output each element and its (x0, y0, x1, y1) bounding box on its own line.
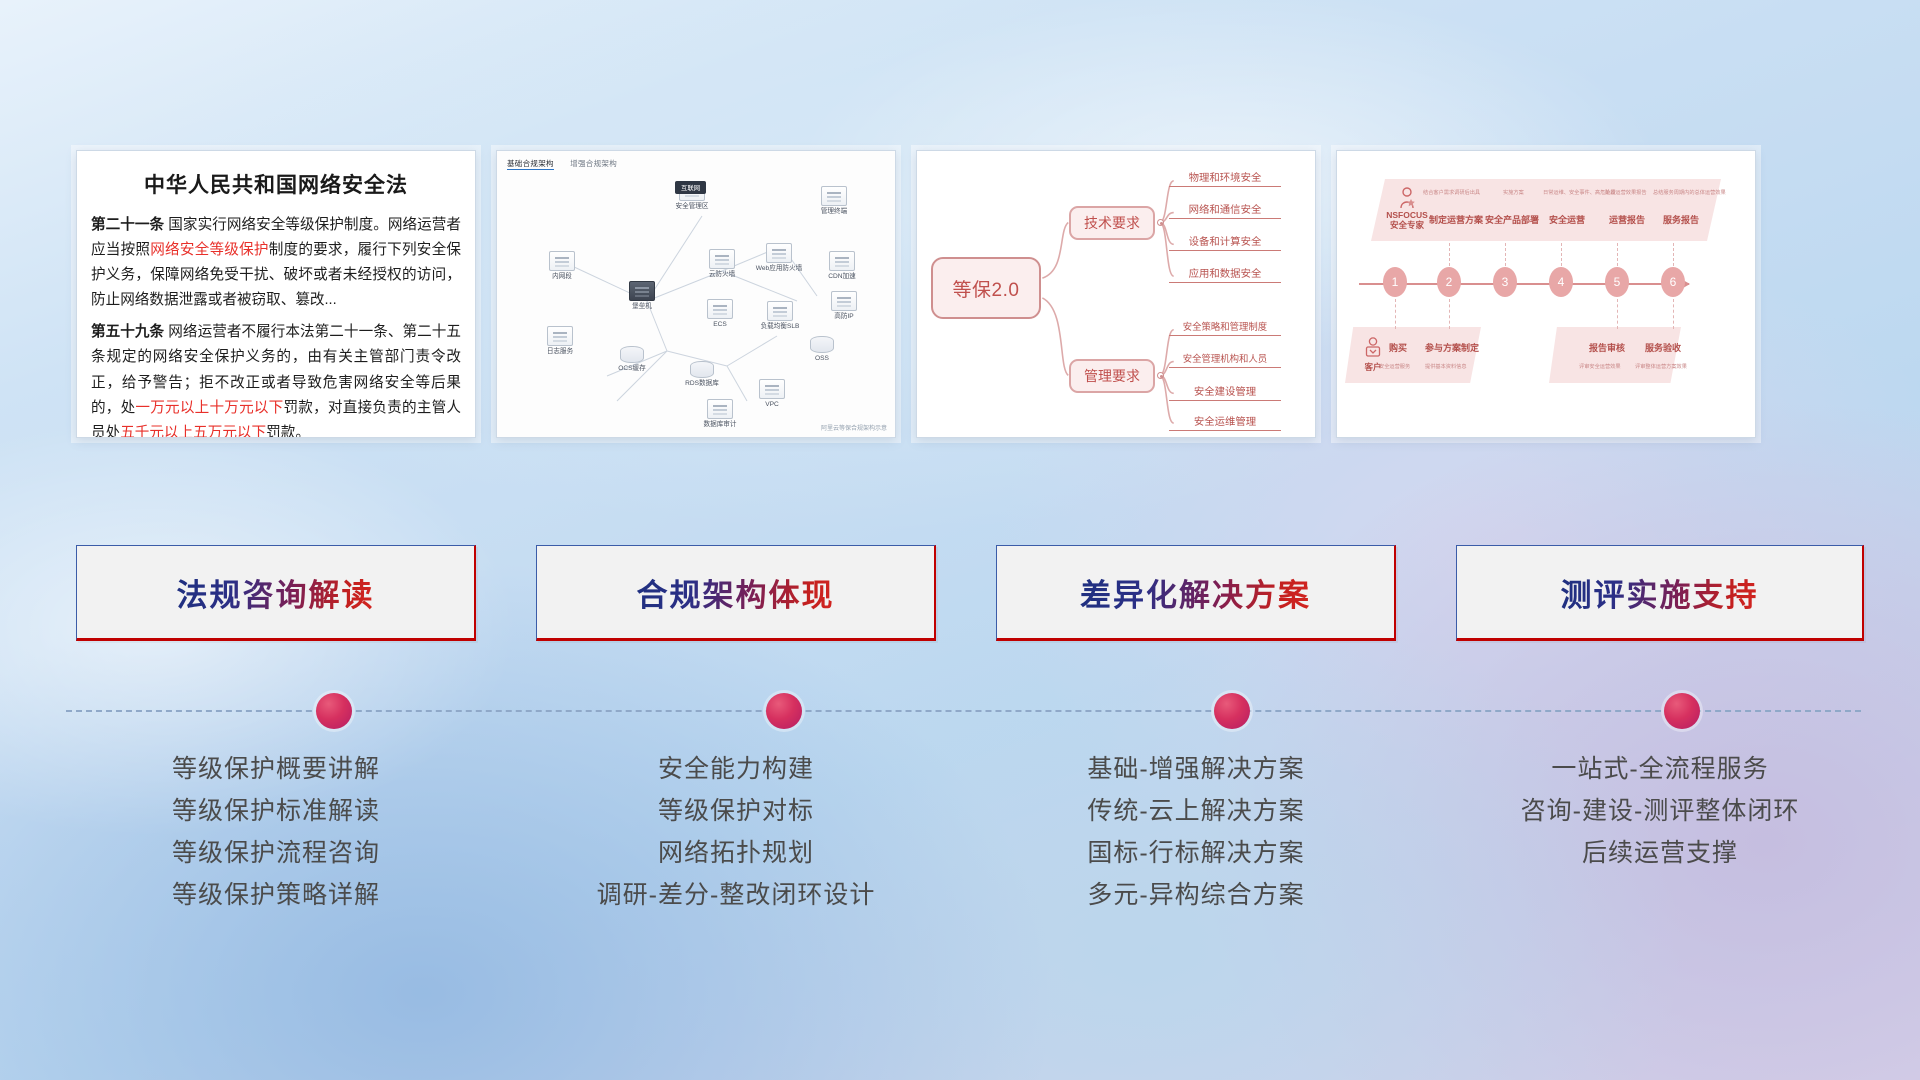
service-column-4: 一站式-全流程服务 咨询-建设-测评整体闭环 后续运营支撑 (1456, 748, 1864, 916)
timeline-marker-1 (316, 693, 352, 729)
process-connector (1617, 299, 1618, 329)
section-heading-text: 差异化解决方案 (1080, 570, 1311, 615)
expert-label-line1: NSFOCUS (1381, 210, 1433, 220)
mindmap-leaf: 安全策略和管理制度 (1169, 319, 1281, 336)
service-item: 后续运营支撑 (1456, 832, 1864, 874)
arch-node-label: 数据库审计 (704, 421, 737, 428)
illustration-card-row: 中华人民共和国网络安全法 第二十一条 国家实行网络安全等级保护制度。网络运营者应… (76, 150, 1846, 440)
arch-node-label: Web应用防火墙 (756, 265, 802, 272)
service-item: 咨询-建设-测评整体闭环 (1456, 790, 1864, 832)
process-step-sub: 结合客户需求调研后出具 (1423, 189, 1480, 196)
law-article-21: 第二十一条 国家实行网络安全等级保护制度。网络运营者应当按照网络安全等级保护制度… (91, 213, 461, 313)
service-item: 调研-差分-整改闭环设计 (536, 874, 936, 916)
arch-badge-internet: 互联网 (675, 181, 706, 194)
section-heading-box-1[interactable]: 法规咨询解读 (76, 545, 476, 641)
service-item: 等级保护概要讲解 (76, 748, 476, 790)
arch-node-label: 云防火墙 (709, 271, 735, 278)
mindmap-leaf: 安全运维管理 (1169, 413, 1281, 431)
arch-node-label: OSS (815, 355, 829, 362)
arch-node-admin-terminal: 管理终端 (807, 186, 861, 216)
mindmap-collapse-icon[interactable] (1157, 219, 1164, 226)
process-axis (1359, 283, 1689, 285)
mindmap-leaf: 设备和计算安全 (1169, 233, 1281, 251)
card-dengbao-mindmap: 等保2.0 技术要求 物理和环境安全 网络和通信安全 设备和计算安全 应用和数据… (916, 150, 1316, 438)
process-step-title: 运营报告 (1609, 213, 1645, 226)
process-step-sub: 提供基本资料信息 (1425, 363, 1467, 370)
service-column-1: 等级保护概要讲解 等级保护标准解读 等级保护流程咨询 等级保护策略详解 (76, 748, 476, 916)
process-step-sub: 评审整体运营方案效果 (1635, 363, 1687, 370)
arch-node-label: ECS (713, 321, 727, 328)
mindmap-branch-management: 管理要求 (1069, 359, 1155, 393)
service-item: 等级保护对标 (536, 790, 936, 832)
law-article-59-text-c: 罚款。 (266, 425, 310, 438)
process-step-sub: 总结服务周期内的总体运营效果 (1653, 189, 1726, 196)
timeline-marker-2 (766, 693, 802, 729)
arch-node-label: CDN加速 (828, 273, 855, 280)
mindmap-branch-technical: 技术要求 (1069, 206, 1155, 240)
section-heading-text: 合规架构体现 (637, 570, 835, 615)
process-step-title: 安全产品部署 (1485, 213, 1539, 226)
process-step-title: 服务报告 (1663, 213, 1699, 226)
arch-node-label: 日志服务 (547, 348, 573, 355)
process-node: 4 (1549, 267, 1573, 297)
service-item: 等级保护策略详解 (76, 874, 476, 916)
process-step-title: 安全运营 (1549, 213, 1585, 226)
mindmap-root: 等保2.0 (931, 257, 1041, 319)
service-item: 传统-云上解决方案 (996, 790, 1396, 832)
process-step-sub: 安全运营服务 (1379, 363, 1410, 370)
arch-node-oss: OSS (795, 336, 849, 363)
process-step-title: 购买 (1389, 341, 1407, 354)
arch-node-label: 堡垒机 (632, 303, 652, 310)
process-timeline: NSFOCUS 安全专家 客户 结合客户需求调研后出具 制定运营方案 实施方案 (1337, 151, 1755, 437)
timeline-marker-3 (1214, 693, 1250, 729)
service-detail-columns: 等级保护概要讲解 等级保护标准解读 等级保护流程咨询 等级保护策略详解 安全能力… (76, 748, 1864, 916)
section-heading-row: 法规咨询解读 合规架构体现 差异化解决方案 测评实施支持 (76, 545, 1864, 641)
arch-node-db-audit: 数据库审计 (693, 399, 747, 429)
process-step-title: 参与方案制定 (1425, 341, 1479, 354)
arch-node-label: OCS缓存 (618, 365, 645, 372)
section-heading-box-3[interactable]: 差异化解决方案 (996, 545, 1396, 641)
arch-node-label: 管理终端 (821, 208, 847, 215)
mindmap-leaf: 安全管理机构和人员 (1169, 351, 1281, 368)
mindmap-collapse-icon[interactable] (1157, 372, 1164, 379)
arch-node-label: 高防IP (834, 313, 853, 320)
arch-node-slb: 负载均衡SLB (753, 301, 807, 331)
service-item: 安全能力构建 (536, 748, 936, 790)
service-item: 一站式-全流程服务 (1456, 748, 1864, 790)
arch-node-intranet: 内网段 (535, 251, 589, 281)
arch-node-cloud-firewall: 云防火墙 (695, 249, 749, 279)
process-connector (1673, 299, 1674, 329)
process-connector (1449, 299, 1450, 329)
law-article-59-highlight-b: 五千元以上五万元以下 (120, 425, 266, 438)
process-step-sub: 实施方案 (1503, 189, 1524, 196)
service-column-3: 基础-增强解决方案 传统-云上解决方案 国标-行标解决方案 多元-异构综合方案 (996, 748, 1396, 916)
process-node: 3 (1493, 267, 1517, 297)
arch-caption: 阿里云等保合规架构示意 (821, 423, 887, 432)
arch-node-cdn: CDN加速 (815, 251, 869, 281)
arch-node-antiddos: 高防IP (817, 291, 871, 321)
arch-node-label: 负载均衡SLB (761, 323, 800, 330)
law-body: 第二十一条 国家实行网络安全等级保护制度。网络运营者应当按照网络安全等级保护制度… (77, 213, 475, 438)
law-article-59: 第五十九条 网络运营者不履行本法第二十一条、第二十五条规定的网络安全保护义务的，… (91, 320, 461, 438)
process-step-title: 制定运营方案 (1429, 213, 1483, 226)
process-node: 5 (1605, 267, 1629, 297)
process-step-sub: 阶段运营效果报告 (1605, 189, 1647, 196)
process-connector (1395, 299, 1396, 329)
architecture-diagram: 基础合规架构 增强合规架构 内网段 安全管理区 管理终端 堡垒机 ECS We (497, 151, 895, 437)
expert-icon (1397, 187, 1417, 209)
card-compliance-architecture: 基础合规架构 增强合规架构 内网段 安全管理区 管理终端 堡垒机 ECS We (496, 150, 896, 438)
arch-node-label: RDS数据库 (685, 380, 719, 387)
arch-node-ocs: OCS缓存 (605, 346, 659, 373)
law-article-21-label: 第二十一条 (91, 217, 164, 233)
service-item: 等级保护标准解读 (76, 790, 476, 832)
mindmap-leaf: 安全建设管理 (1169, 383, 1281, 401)
section-heading-text: 法规咨询解读 (177, 570, 375, 615)
service-column-2: 安全能力构建 等级保护对标 网络拓扑规划 调研-差分-整改闭环设计 (536, 748, 936, 916)
arch-node-label: 内网段 (552, 273, 572, 280)
process-node: 2 (1437, 267, 1461, 297)
arch-node-log-service: 日志服务 (533, 326, 587, 356)
arch-node-vpc: VPC (745, 379, 799, 409)
service-item: 国标-行标解决方案 (996, 832, 1396, 874)
mindmap: 等保2.0 技术要求 物理和环境安全 网络和通信安全 设备和计算安全 应用和数据… (917, 151, 1315, 437)
process-step-title: 服务验收 (1645, 341, 1681, 354)
process-step-sub: 评审安全运营效果 (1579, 363, 1621, 370)
customer-icon (1364, 337, 1382, 361)
law-title: 中华人民共和国网络安全法 (77, 169, 475, 199)
arch-node-label: VPC (765, 401, 779, 408)
arch-node-label: 安全管理区 (676, 203, 709, 210)
section-heading-text: 测评实施支持 (1561, 570, 1759, 615)
arch-node-bastion: 堡垒机 (615, 281, 669, 311)
process-node: 1 (1383, 267, 1407, 297)
process-node: 6 (1661, 267, 1685, 297)
arch-node-rds: RDS数据库 (675, 361, 729, 388)
timeline-strip (66, 693, 1861, 729)
service-item: 多元-异构综合方案 (996, 874, 1396, 916)
card-service-process: NSFOCUS 安全专家 客户 结合客户需求调研后出具 制定运营方案 实施方案 (1336, 150, 1756, 438)
service-item: 网络拓扑规划 (536, 832, 936, 874)
section-heading-box-4[interactable]: 测评实施支持 (1456, 545, 1864, 641)
card-cybersecurity-law: 中华人民共和国网络安全法 第二十一条 国家实行网络安全等级保护制度。网络运营者应… (76, 150, 476, 438)
law-article-21-highlight: 网络安全等级保护 (150, 242, 268, 258)
service-item: 基础-增强解决方案 (996, 748, 1396, 790)
process-step-title: 报告审核 (1589, 341, 1625, 354)
section-heading-box-2[interactable]: 合规架构体现 (536, 545, 936, 641)
mindmap-leaf: 应用和数据安全 (1169, 265, 1281, 283)
law-article-59-highlight-a: 一万元以上十万元以下 (135, 400, 283, 416)
mindmap-leaf: 物理和环境安全 (1169, 169, 1281, 187)
arch-node-ecs: ECS (693, 299, 747, 329)
timeline-marker-4 (1664, 693, 1700, 729)
slide-page: 中华人民共和国网络安全法 第二十一条 国家实行网络安全等级保护制度。网络运营者应… (0, 0, 1920, 1080)
service-item: 等级保护流程咨询 (76, 832, 476, 874)
arch-node-waf: Web应用防火墙 (752, 243, 806, 273)
process-band-bottom-right (1549, 327, 1681, 383)
expert-label-line2: 安全专家 (1381, 220, 1433, 230)
mindmap-leaf: 网络和通信安全 (1169, 201, 1281, 219)
law-article-59-label: 第五十九条 (91, 324, 164, 340)
